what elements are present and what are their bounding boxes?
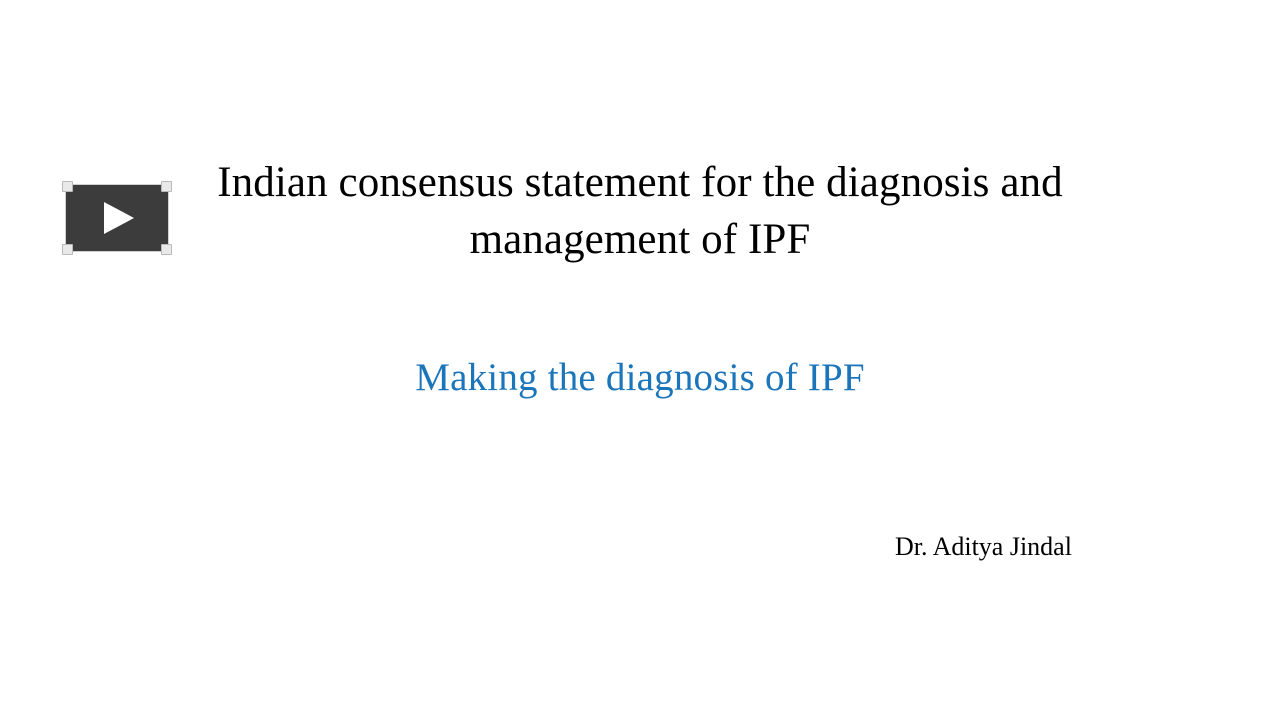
play-media-object[interactable] [62,181,172,255]
resize-handle-bottom-left[interactable] [62,244,73,255]
media-frame[interactable] [66,185,168,251]
author-name: Dr. Aditya Jindal [895,531,1072,562]
presentation-slide: Indian consensus statement for the diagn… [0,0,1280,720]
resize-handle-top-right[interactable] [161,181,172,192]
resize-handle-bottom-right[interactable] [161,244,172,255]
play-icon [104,202,134,234]
resize-handle-top-left[interactable] [62,181,73,192]
slide-subtitle: Making the diagnosis of IPF [110,355,1170,402]
page-title: Indian consensus statement for the diagn… [110,155,1170,269]
